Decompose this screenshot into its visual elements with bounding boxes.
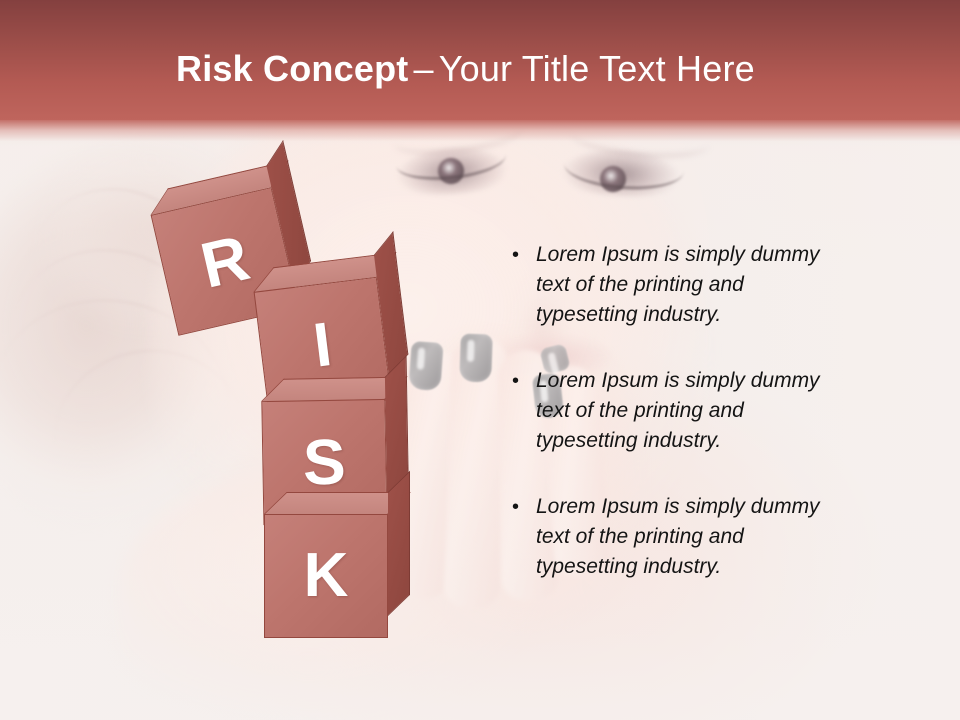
page-title-rest: Your Title Text Here [439, 48, 755, 89]
cube-letter-text: K [304, 545, 349, 607]
cube-letter-k: K [264, 492, 388, 616]
cube-letter-text: S [302, 430, 346, 495]
bullet-text: Lorem Ipsum is simply dummy text of the … [536, 366, 848, 456]
bullet-marker: • [512, 492, 536, 522]
cube-side-face [388, 471, 410, 616]
bullet-item: • Lorem Ipsum is simply dummy text of th… [512, 492, 848, 582]
page-title-strong: Risk Concept [176, 48, 408, 89]
bullet-marker: • [512, 240, 536, 270]
cube-letter-s: S [261, 377, 387, 503]
bullet-marker: • [512, 366, 536, 396]
cube-letter-text: R [195, 225, 254, 298]
page-title-dash: – [408, 48, 438, 89]
slide-canvas: Risk Concept–Your Title Text Here R I S [0, 0, 960, 720]
cube-front-face: K [264, 514, 388, 638]
bullet-text: Lorem Ipsum is simply dummy text of the … [536, 492, 848, 582]
cube-letter-i: I [251, 255, 389, 393]
cube-letter-text: I [310, 314, 335, 378]
bullet-item: • Lorem Ipsum is simply dummy text of th… [512, 366, 848, 456]
bullet-text: Lorem Ipsum is simply dummy text of the … [536, 240, 848, 330]
bullet-list: • Lorem Ipsum is simply dummy text of th… [512, 240, 848, 618]
page-title: Risk Concept–Your Title Text Here [176, 48, 755, 90]
bullet-item: • Lorem Ipsum is simply dummy text of th… [512, 240, 848, 330]
